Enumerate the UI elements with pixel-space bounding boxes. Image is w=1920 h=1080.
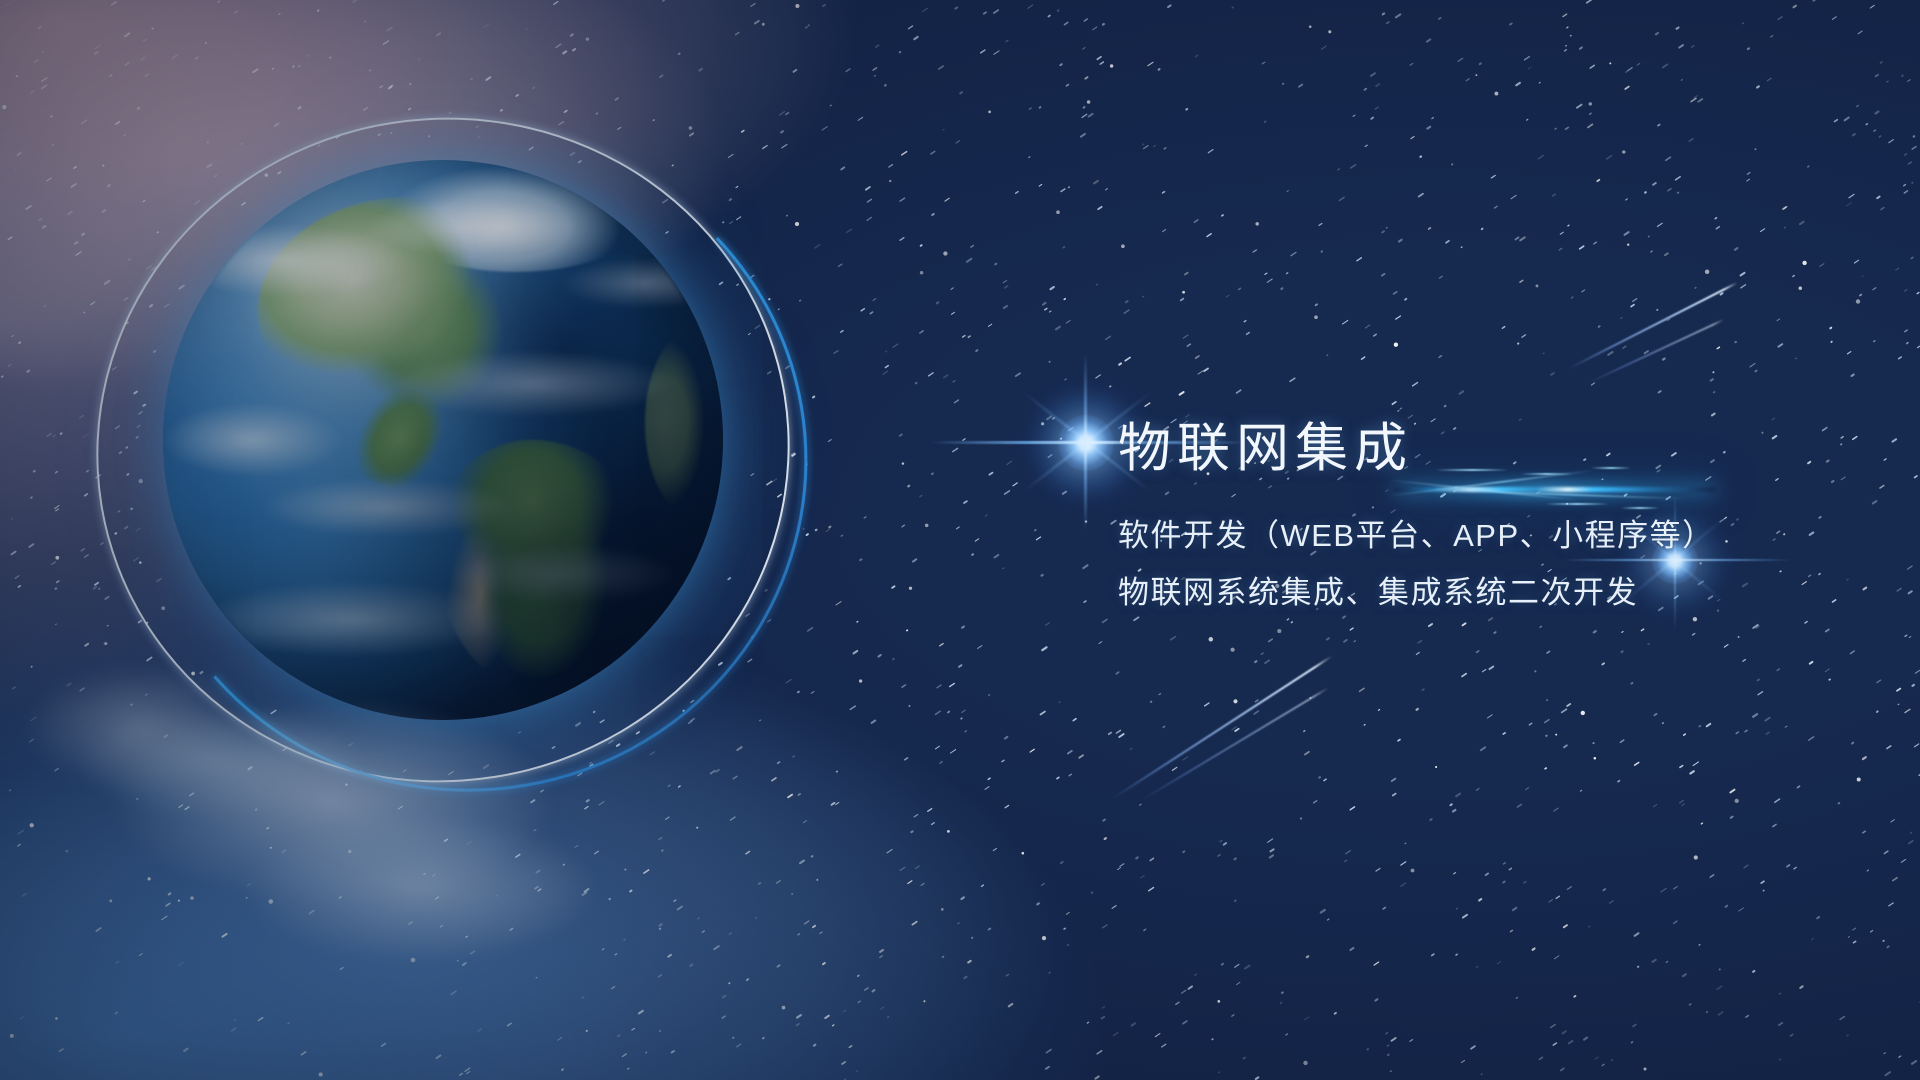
globe-limb-highlight bbox=[163, 160, 723, 720]
banner-stage: 物联网集成 软件开发（WEB平台、APP、小程序等） 物联网系统集成、集成系统二… bbox=[0, 0, 1920, 1080]
cloud-wisp-left bbox=[0, 640, 300, 830]
banner-headline: 物联网集成 bbox=[1118, 418, 1818, 481]
earth-globe bbox=[163, 160, 723, 720]
meteor-streak-upper bbox=[1567, 282, 1737, 370]
meteor-streak-lower-tail bbox=[1140, 687, 1329, 802]
banner-copy: 物联网集成 软件开发（WEB平台、APP、小程序等） 物联网系统集成、集成系统二… bbox=[1118, 418, 1818, 613]
banner-subline-1: 软件开发（WEB平台、APP、小程序等） bbox=[1118, 517, 1818, 556]
meteor-streak-upper-tail bbox=[1588, 319, 1725, 384]
globe-sphere bbox=[163, 160, 723, 720]
meteor-streak-lower bbox=[1111, 655, 1332, 800]
banner-subline-2: 物联网系统集成、集成系统二次开发 bbox=[1118, 574, 1818, 613]
